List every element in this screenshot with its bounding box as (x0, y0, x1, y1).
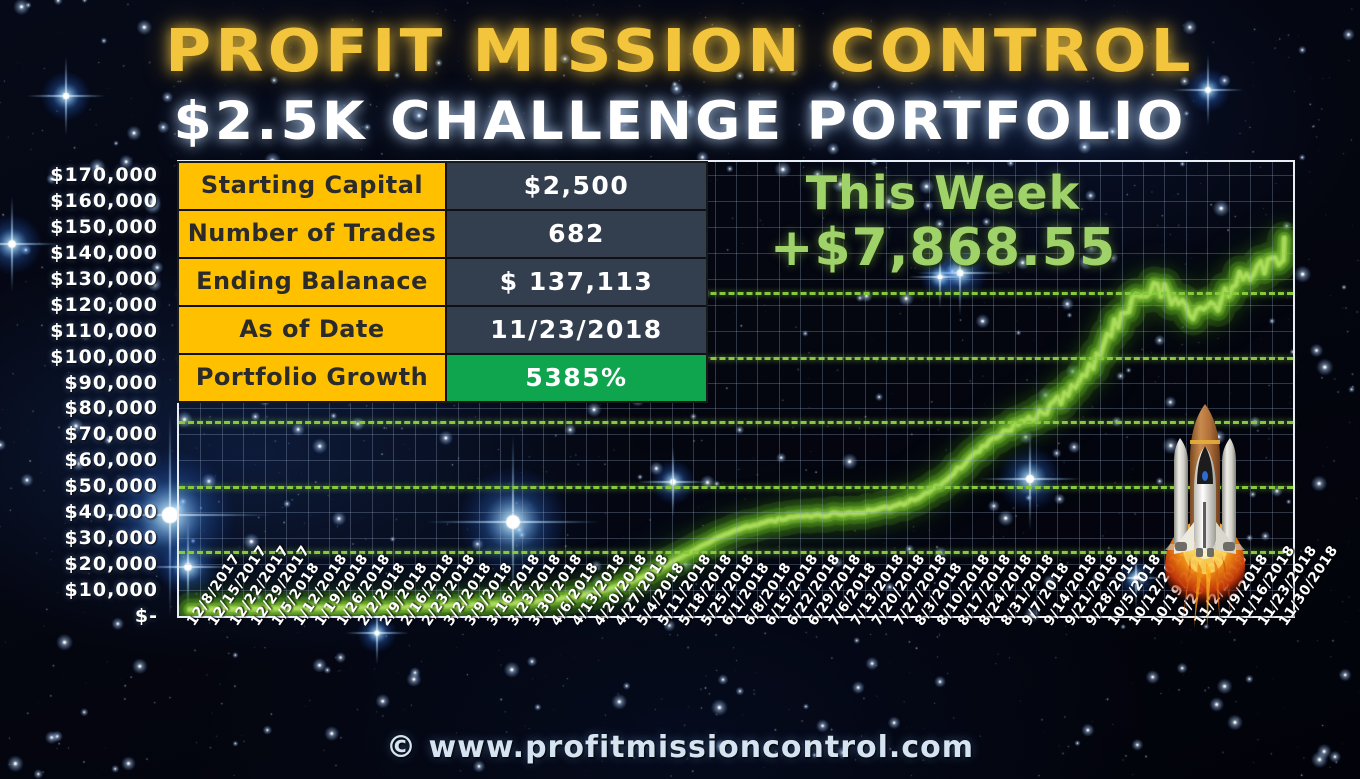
grid-line-vertical (1272, 162, 1273, 616)
table-row: As of Date 11/23/2018 (179, 307, 706, 355)
table-row: Starting Capital $2,500 (179, 163, 706, 211)
table-row: Ending Balanace $ 137,113 (179, 259, 706, 307)
y-axis-tick: $100,000 (50, 346, 158, 368)
table-row: Number of Trades 682 (179, 211, 706, 259)
grid-line-horizontal (179, 460, 1293, 461)
y-axis-tick: $170,000 (50, 164, 158, 186)
grid-line-horizontal (179, 408, 1293, 409)
header-block: PROFIT MISSION CONTROL $2.5K CHALLENGE P… (0, 16, 1360, 152)
reference-line (179, 421, 1293, 424)
page-subtitle: $2.5K CHALLENGE PORTFOLIO (0, 91, 1360, 152)
reference-line (179, 486, 1293, 489)
y-axis-tick: $10,000 (64, 579, 158, 601)
y-axis-tick: $- (135, 605, 158, 627)
y-axis-tick: $20,000 (64, 553, 158, 575)
grid-line-horizontal (179, 512, 1293, 513)
y-axis-tick: $30,000 (64, 527, 158, 549)
rocket-icon (1160, 398, 1250, 628)
grid-line-horizontal (179, 434, 1293, 435)
this-week-label: This Week (733, 166, 1153, 220)
y-axis-tick: $80,000 (64, 397, 158, 419)
this-week-amount: +$7,868.55 (733, 218, 1153, 278)
stat-label: Portfolio Growth (179, 355, 447, 401)
x-axis: 12/8/201712/15/201712/22/201712/29/20171… (177, 620, 1295, 740)
y-axis-tick: $60,000 (64, 449, 158, 471)
footer-website[interactable]: © www.profitmissioncontrol.com (0, 730, 1360, 765)
grid-line-vertical (715, 162, 716, 616)
y-axis-tick: $130,000 (50, 268, 158, 290)
y-axis-tick: $140,000 (50, 242, 158, 264)
y-axis-tick: $70,000 (64, 423, 158, 445)
y-axis-tick: $120,000 (50, 294, 158, 316)
y-axis-tick: $50,000 (64, 475, 158, 497)
stat-value: 682 (447, 211, 706, 257)
this-week-callout: This Week +$7,868.55 (733, 166, 1153, 278)
reference-line (179, 551, 1293, 554)
stat-label: Ending Balanace (179, 259, 447, 305)
stat-label: Starting Capital (179, 163, 447, 209)
y-axis-tick: $150,000 (50, 216, 158, 238)
grid-line-horizontal (179, 538, 1293, 539)
y-axis-tick: $160,000 (50, 190, 158, 212)
y-axis: $170,000$160,000$150,000$140,000$130,000… (0, 160, 170, 618)
table-row: Portfolio Growth 5385% (179, 355, 706, 401)
stat-label: Number of Trades (179, 211, 447, 257)
stats-table: Starting Capital $2,500 Number of Trades… (177, 161, 708, 403)
y-axis-tick: $90,000 (64, 372, 158, 394)
stat-value: $ 137,113 (447, 259, 706, 305)
stat-value: $2,500 (447, 163, 706, 209)
y-axis-tick: $110,000 (50, 320, 158, 342)
stat-value-growth: 5385% (447, 355, 706, 401)
grid-line-vertical (1250, 162, 1251, 616)
y-axis-tick: $40,000 (64, 501, 158, 523)
stat-value: 11/23/2018 (447, 307, 706, 353)
stat-label: As of Date (179, 307, 447, 353)
page-title: PROFIT MISSION CONTROL (0, 16, 1360, 85)
